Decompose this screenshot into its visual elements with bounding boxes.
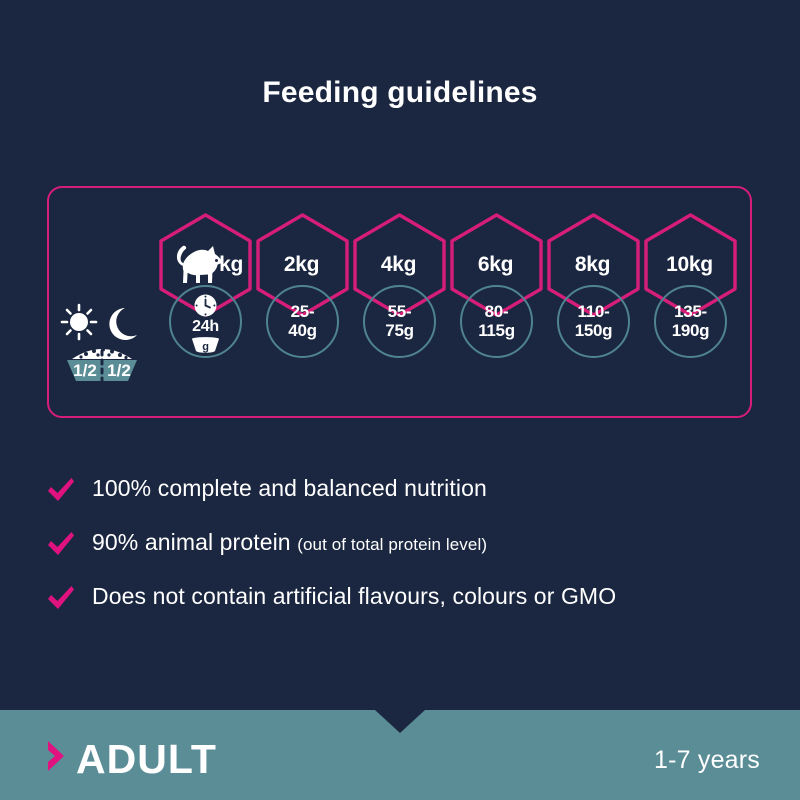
feeding-column: kg 24h — [157, 212, 254, 392]
bowl-icon: g — [189, 336, 222, 354]
feeding-amount-circle: 25- 40g — [266, 285, 339, 358]
benefit-text: 100% complete and balanced nutrition — [92, 474, 487, 503]
life-stage-label: ADULT — [76, 736, 217, 783]
benefit-note: (out of total protein level) — [297, 535, 487, 554]
clock-icon — [193, 293, 218, 318]
list-item: Does not contain artificial flavours, co… — [46, 582, 746, 614]
feeding-column: 8kg 110- 150g — [545, 212, 642, 392]
feed-frequency-label: 24h — [192, 319, 219, 335]
feeding-amount-circle: 24h g — [169, 285, 242, 358]
page-title: Feeding guidelines — [0, 76, 800, 110]
sun-moon-bowl-icon: 1/2 1/2 — [52, 302, 152, 386]
bowl-unit-label: g — [202, 341, 208, 353]
feeding-amount-circle: 80- 115g — [460, 285, 533, 358]
product-feeding-panel: Feeding guidelines — [0, 0, 800, 800]
feeding-amount-circle: 110- 150g — [557, 285, 630, 358]
feeding-amount-circle: 55- 75g — [363, 285, 436, 358]
list-item: 100% complete and balanced nutrition — [46, 474, 746, 506]
age-range-label: 1-7 years — [654, 746, 760, 775]
benefits-list: 100% complete and balanced nutrition 90%… — [46, 474, 746, 636]
feeding-column: 10kg 135- 190g — [642, 212, 739, 392]
chevron-right-icon — [46, 740, 68, 772]
benefit-text: 90% animal protein — [92, 529, 291, 555]
check-icon — [46, 530, 76, 560]
split-portion-evening: 1/2 — [107, 361, 131, 380]
feeding-column: 2kg 25- 40g — [254, 212, 351, 392]
feeding-amount-circle: 135- 190g — [654, 285, 727, 358]
list-item: 90% animal protein (out of total protein… — [46, 528, 746, 560]
feeding-column: 6kg 80- 115g — [448, 212, 545, 392]
feeding-columns: kg 24h — [157, 212, 742, 392]
check-icon — [46, 584, 76, 614]
split-portion-morning: 1/2 — [73, 361, 97, 380]
check-icon — [46, 476, 76, 506]
benefit-text: Does not contain artificial flavours, co… — [92, 582, 616, 611]
footer-notch — [375, 710, 425, 733]
feeding-column: 4kg 55- 75g — [351, 212, 448, 392]
life-stage-footer: ADULT 1-7 years — [0, 710, 800, 800]
